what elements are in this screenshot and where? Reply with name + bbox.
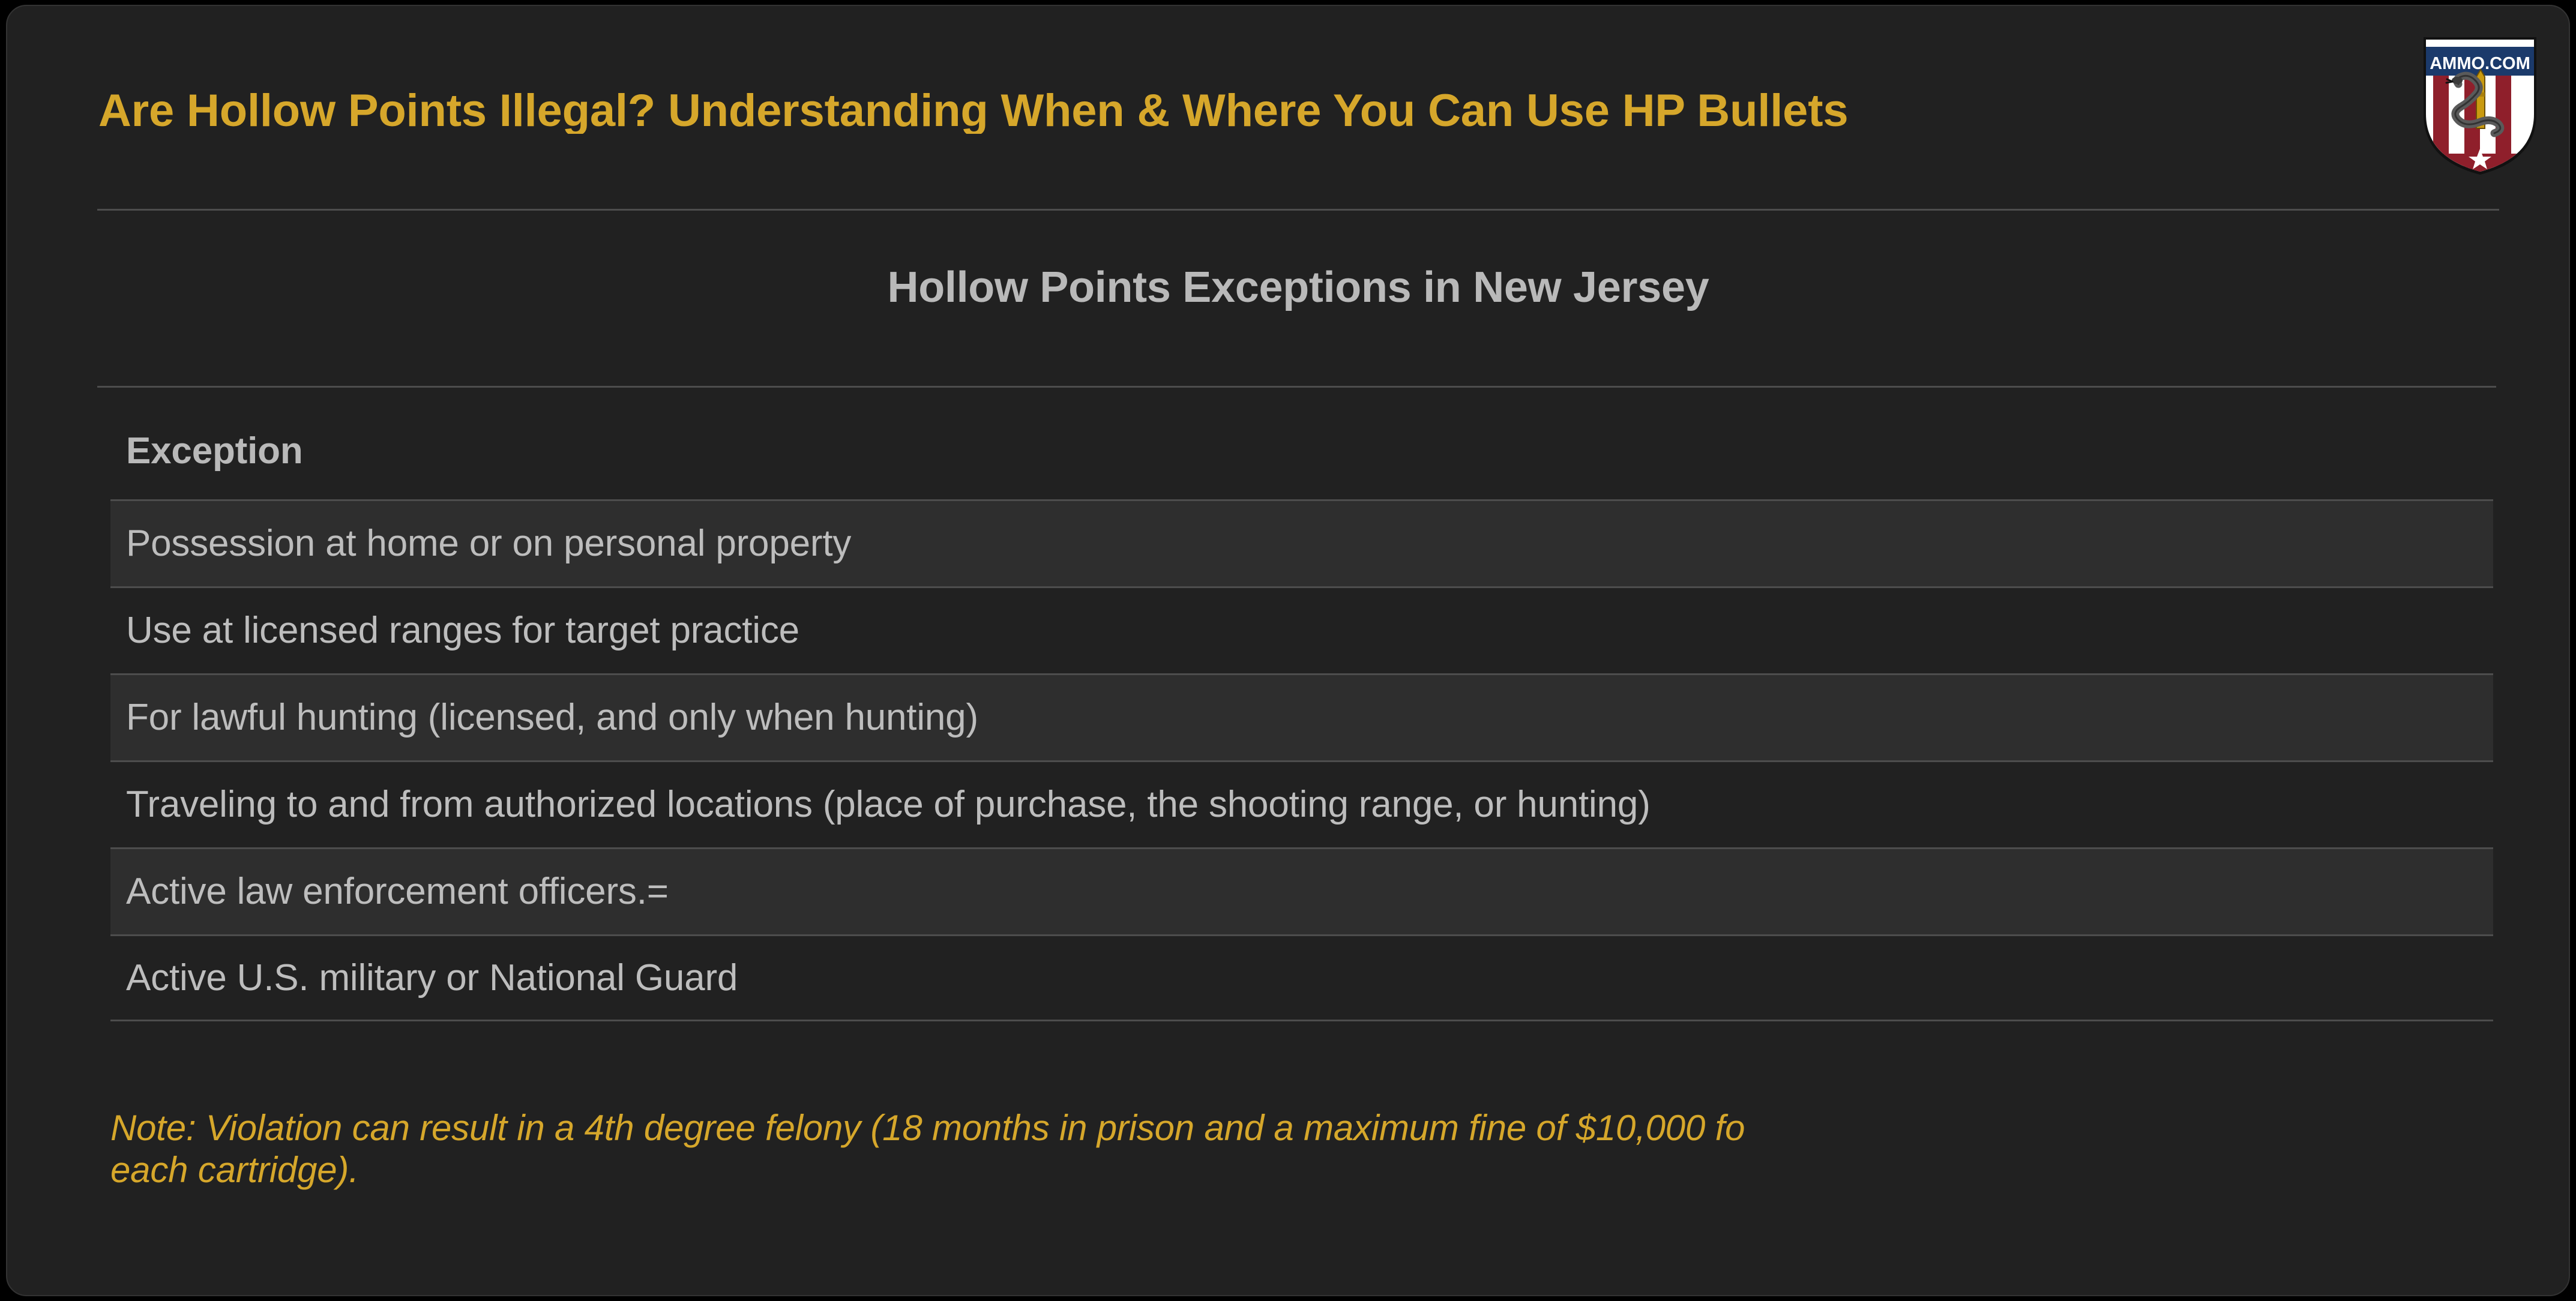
exception-cell: For lawful hunting (licensed, and only w…	[126, 698, 978, 737]
logo-wordmark: AMMO.COM	[2430, 54, 2530, 73]
page-title: Are Hollow Points Illegal? Understanding…	[98, 88, 2259, 134]
exception-cell: Possession at home or on personal proper…	[126, 524, 851, 563]
exception-cell: Active law enforcement officers.=	[126, 872, 669, 911]
exception-cell: Active U.S. military or National Guard	[126, 958, 738, 997]
footer-note-line-1: Note: Violation can result in a 4th degr…	[110, 1107, 2283, 1149]
exception-cell: Traveling to and from authorized locatio…	[126, 785, 1651, 824]
card-header: Are Hollow Points Illegal? Understanding…	[7, 6, 2569, 215]
table-row: For lawful hunting (licensed, and only w…	[110, 673, 2493, 760]
table-row: Traveling to and from authorized locatio…	[110, 760, 2493, 847]
table-header-row: Exception	[110, 402, 2493, 499]
column-header-exception: Exception	[126, 430, 303, 472]
header-divider	[97, 209, 2499, 211]
table-row: Possession at home or on personal proper…	[110, 499, 2493, 586]
footer-note: Note: Violation can result in a 4th degr…	[110, 1107, 2289, 1191]
chart-subtitle: Hollow Points Exceptions in New Jersey	[97, 264, 2499, 311]
infographic-card: Are Hollow Points Illegal? Understanding…	[6, 5, 2570, 1296]
table-row: Active U.S. military or National Guard	[110, 934, 2493, 1021]
table-row: Use at licensed ranges for target practi…	[110, 586, 2493, 673]
ammo-com-shield-logo: AMMO.COM	[2421, 35, 2539, 176]
table-row: Active law enforcement officers.=	[110, 847, 2493, 934]
exception-cell: Use at licensed ranges for target practi…	[126, 611, 799, 650]
subtitle-divider	[97, 386, 2496, 388]
footer-note-line-2: each cartridge).	[110, 1149, 2289, 1191]
exceptions-table: Exception Possession at home or on perso…	[110, 402, 2493, 1021]
